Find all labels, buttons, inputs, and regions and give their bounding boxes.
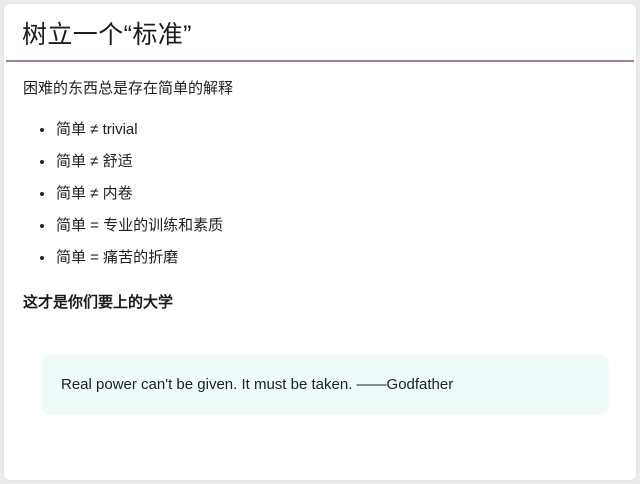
slide-card: 树立一个“标准” 困难的东西总是存在简单的解释 简单 ≠ trivial 简单 … xyxy=(4,4,636,480)
bullet-dot-icon xyxy=(40,128,44,132)
list-item: 简单 ≠ trivial xyxy=(40,114,223,146)
emphasis-line: 这才是你们要上的大学 xyxy=(23,292,173,314)
list-item-label: 简单 = 专业的训练和素质 xyxy=(56,217,223,234)
list-item-label: 简单 ≠ trivial xyxy=(56,121,138,138)
bullet-dot-icon xyxy=(40,160,44,164)
bullet-list: 简单 ≠ trivial 简单 ≠ 舒适 简单 ≠ 内卷 简单 = 专业的训练和… xyxy=(40,114,223,274)
list-item-label: 简单 = 痛苦的折磨 xyxy=(56,249,178,266)
page-title: 树立一个“标准” xyxy=(22,18,192,52)
quote-callout: Real power can't be given. It must be ta… xyxy=(42,355,608,413)
lead-paragraph: 困难的东西总是存在简单的解释 xyxy=(23,78,233,100)
bullet-dot-icon xyxy=(40,224,44,228)
quote-text: Real power can't be given. It must be ta… xyxy=(61,355,596,413)
list-item: 简单 ≠ 舒适 xyxy=(40,146,223,178)
bullet-dot-icon xyxy=(40,256,44,260)
list-item-label: 简单 ≠ 舒适 xyxy=(56,153,133,170)
list-item: 简单 ≠ 内卷 xyxy=(40,178,223,210)
list-item-label: 简单 ≠ 内卷 xyxy=(56,185,133,202)
list-item: 简单 = 痛苦的折磨 xyxy=(40,242,223,274)
bullet-dot-icon xyxy=(40,192,44,196)
list-item: 简单 = 专业的训练和素质 xyxy=(40,210,223,242)
title-divider xyxy=(6,60,634,62)
